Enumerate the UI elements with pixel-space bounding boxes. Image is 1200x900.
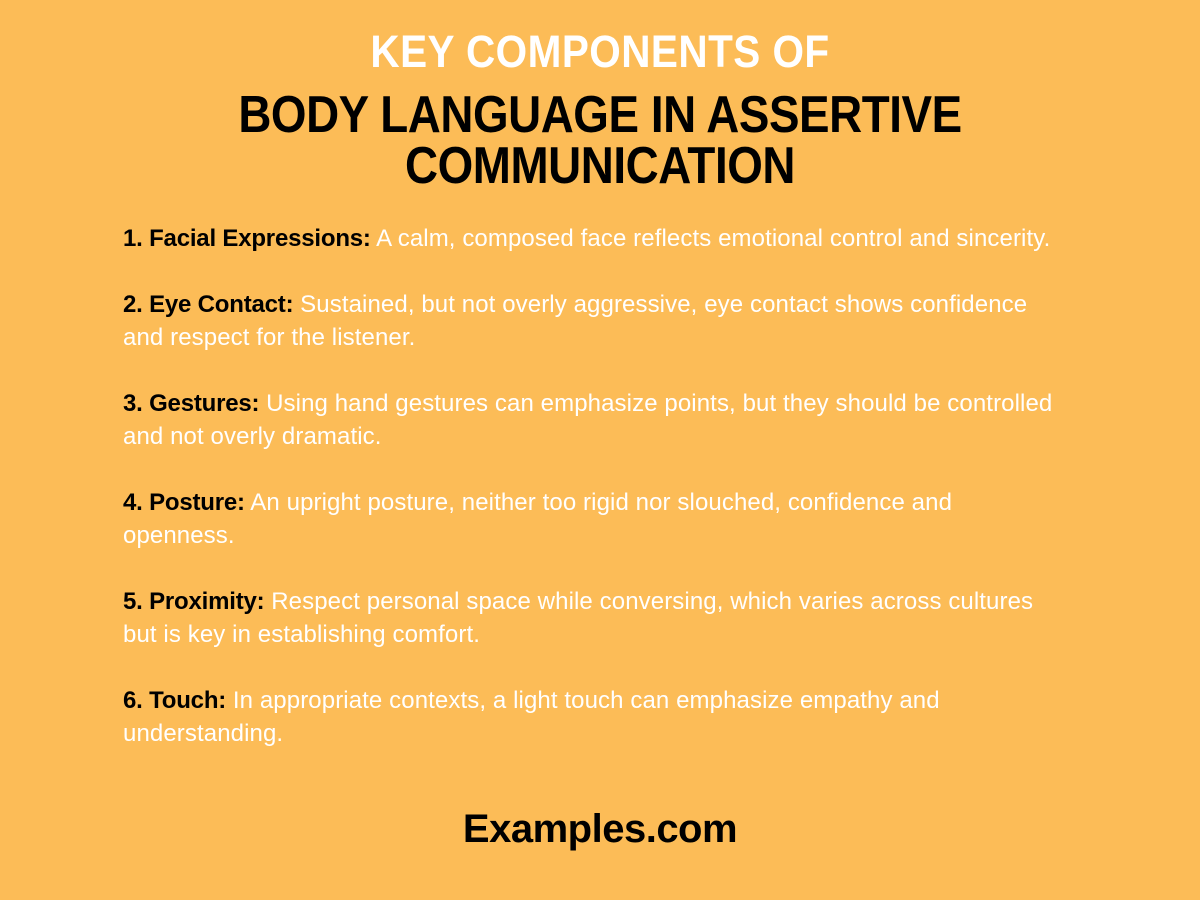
brand-watermark: Examples.com — [0, 806, 1200, 852]
list-item: 3. Gestures: Using hand gestures can emp… — [123, 387, 1053, 453]
title-kicker: KEY COMPONENTS OF — [60, 28, 1140, 76]
list-item-label: 4. Posture: — [123, 489, 245, 516]
list-item-label: 6. Touch: — [123, 687, 226, 714]
list-item: 5. Proximity: Respect personal space whi… — [123, 585, 1053, 651]
poster-canvas: KEY COMPONENTS OF BODY LANGUAGE IN ASSER… — [0, 0, 1200, 900]
list-item-description: In appropriate contexts, a light touch c… — [123, 687, 940, 747]
list-item: 6. Touch: In appropriate contexts, a lig… — [123, 684, 1053, 750]
list-item-description: A calm, composed face reflects emotional… — [376, 225, 1050, 252]
page-title: BODY LANGUAGE IN ASSERTIVE COMMUNICATION — [72, 90, 1128, 192]
title-block: KEY COMPONENTS OF BODY LANGUAGE IN ASSER… — [0, 0, 1200, 192]
list-item-description: Using hand gestures can emphasize points… — [123, 390, 1052, 450]
list-item: 2. Eye Contact: Sustained, but not overl… — [123, 288, 1053, 354]
list-item-label: 2. Eye Contact: — [123, 291, 293, 318]
list-item-label: 5. Proximity: — [123, 588, 264, 615]
list-item-label: 3. Gestures: — [123, 390, 259, 417]
components-list: 1. Facial Expressions: A calm, composed … — [123, 222, 1053, 750]
list-item-label: 1. Facial Expressions: — [123, 225, 371, 252]
list-item: 1. Facial Expressions: A calm, composed … — [123, 222, 1053, 255]
list-item: 4. Posture: An upright posture, neither … — [123, 486, 1053, 552]
list-item-description: An upright posture, neither too rigid no… — [123, 489, 952, 549]
